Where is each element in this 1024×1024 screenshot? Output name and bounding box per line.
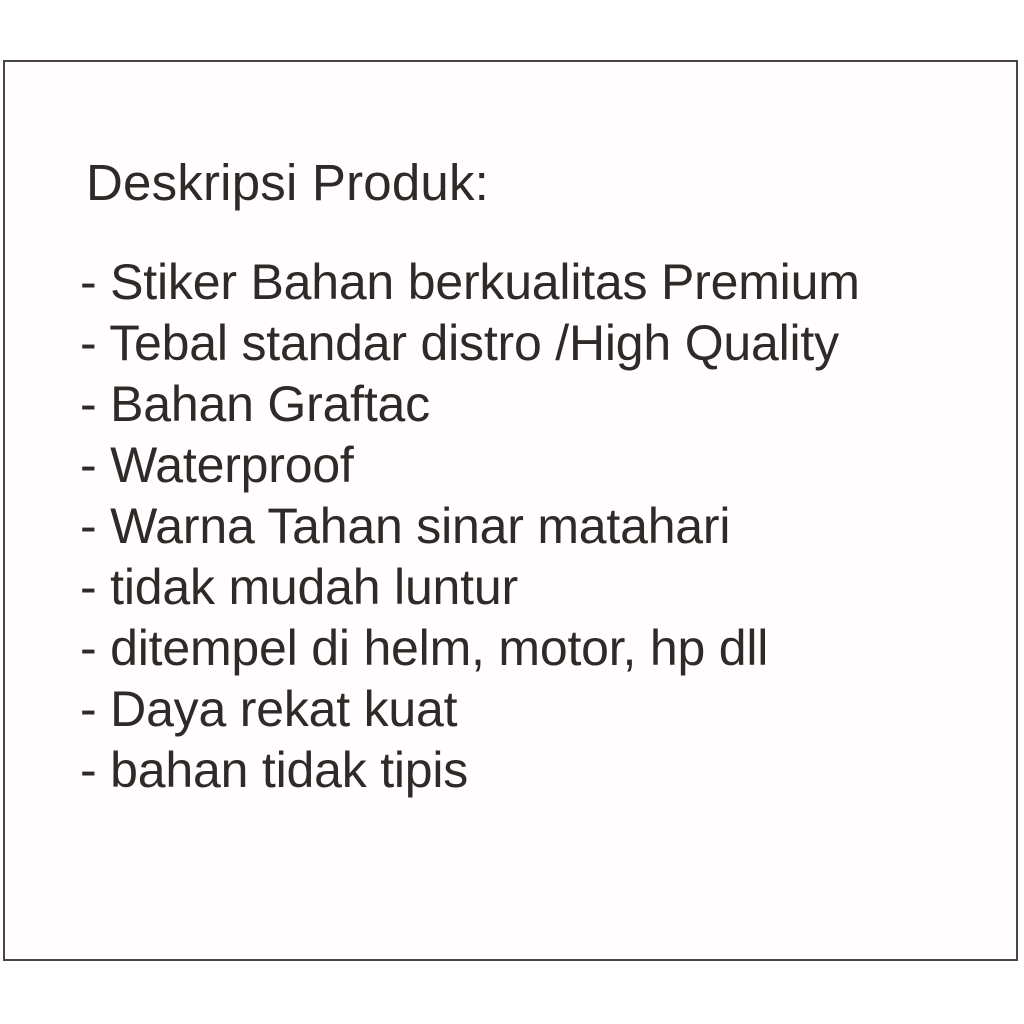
list-item: - Daya rekat kuat xyxy=(80,679,996,740)
feature-text: Warna Tahan sinar matahari xyxy=(110,498,730,554)
feature-text: Daya rekat kuat xyxy=(110,681,457,737)
product-description-card: Deskripsi Produk: - Stiker Bahan berkual… xyxy=(3,60,1018,961)
image-canvas: Deskripsi Produk: - Stiker Bahan berkual… xyxy=(0,0,1024,1024)
list-item: - ditempel di helm, motor, hp dll xyxy=(80,618,996,679)
bullet-dash: - xyxy=(80,681,110,737)
bullet-dash: - xyxy=(80,498,110,554)
list-item: - Waterproof xyxy=(80,435,996,496)
list-item: - Bahan Graftac xyxy=(80,374,996,435)
bullet-dash: - xyxy=(80,620,110,676)
list-item: - Warna Tahan sinar matahari xyxy=(80,496,996,557)
bullet-dash: - xyxy=(80,559,110,615)
bullet-dash: - xyxy=(80,437,110,493)
feature-text: Stiker Bahan berkualitas Premium xyxy=(110,254,859,310)
list-item: - bahan tidak tipis xyxy=(80,740,996,801)
list-item: - tidak mudah luntur xyxy=(80,557,996,618)
bullet-dash: - xyxy=(80,742,110,798)
list-item: - Tebal standar distro /High Quality xyxy=(80,313,996,374)
feature-text: Waterproof xyxy=(110,437,353,493)
feature-text: Tebal standar distro xyxy=(109,315,555,371)
feature-list: - Stiker Bahan berkualitas Premium - Teb… xyxy=(80,252,996,801)
list-item: - Stiker Bahan berkualitas Premium xyxy=(80,252,996,313)
feature-text: tidak mudah luntur xyxy=(110,559,518,615)
feature-text: bahan tidak tipis xyxy=(110,742,468,798)
feature-emphasis: Bahan Graftac xyxy=(110,376,430,432)
feature-text: ditempel di helm, motor, hp dll xyxy=(110,620,768,676)
description-body: Deskripsi Produk: - Stiker Bahan berkual… xyxy=(80,154,996,801)
feature-emphasis: /High Quality xyxy=(555,315,839,371)
bullet-dash: - xyxy=(80,254,110,310)
bullet-dash: - xyxy=(80,376,110,432)
bullet-dash: - xyxy=(80,315,109,371)
page-title: Deskripsi Produk: xyxy=(86,154,996,212)
